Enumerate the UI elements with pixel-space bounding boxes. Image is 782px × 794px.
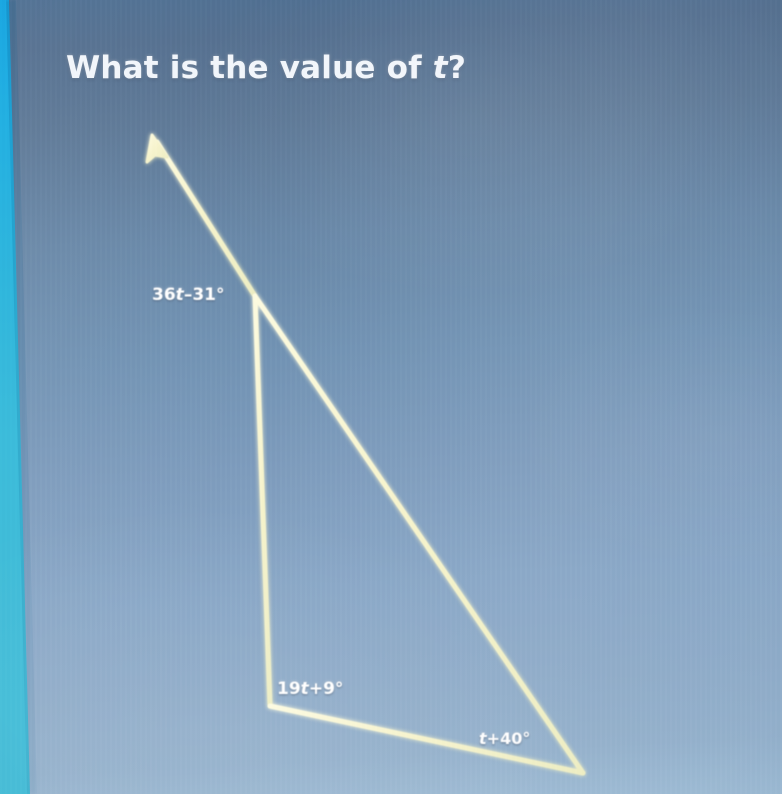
- left-angle-coefficient: 19: [277, 679, 301, 699]
- left-angle-variable: t: [301, 679, 309, 699]
- right-angle-constant: 40: [500, 729, 522, 748]
- angle-label-bottom-right: t+40°: [479, 729, 530, 748]
- left-angle-constant: 9: [323, 679, 335, 699]
- triangle-diagram: [0, 0, 782, 794]
- right-angle-operator: +: [487, 729, 500, 748]
- angle-label-bottom-left: 19t+9°: [277, 679, 343, 699]
- right-angle-variable: t: [479, 729, 487, 748]
- top-angle-degree-sign: °: [216, 285, 225, 305]
- right-angle-degree-sign: °: [522, 729, 530, 748]
- triangle-side-left: [255, 296, 270, 706]
- projected-slide-photo: What is the value of t?: [0, 0, 782, 794]
- angle-label-top: 36t–31°: [152, 285, 224, 305]
- top-angle-variable: t: [176, 285, 184, 305]
- top-angle-constant: 31: [192, 285, 216, 305]
- left-angle-operator: +: [309, 679, 323, 699]
- left-angle-degree-sign: °: [335, 679, 344, 699]
- extended-ray: [157, 142, 255, 296]
- triangle-side-hypotenuse: [255, 296, 583, 773]
- top-angle-coefficient: 36: [152, 285, 176, 305]
- triangle-side-base: [270, 706, 583, 773]
